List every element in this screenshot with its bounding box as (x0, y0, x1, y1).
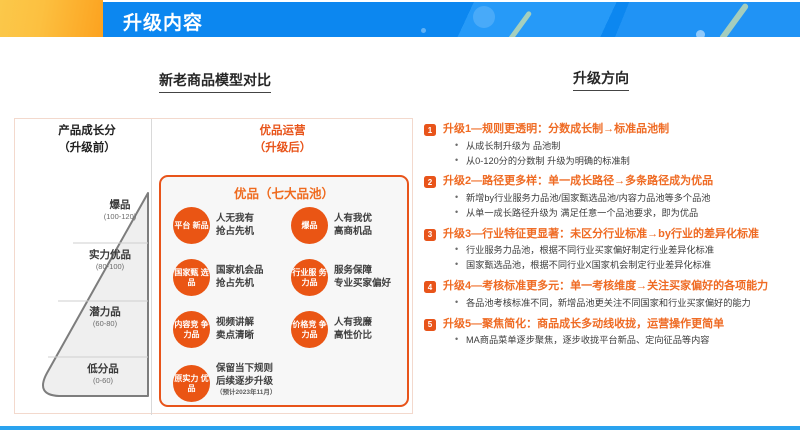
pool-description: 视频讲解 卖点清晰 (216, 317, 254, 342)
pyramid-tier-range: (60-80) (61, 319, 149, 329)
pool-description: 人有我优 高商机品 (334, 213, 372, 238)
list-item: 5 升级5—聚焦简化：商品成长多动线收拢，运营操作更简单 MA商品菜单逐步聚焦，… (424, 317, 796, 349)
direction-bullet: 国家甄选品池，根据不同行业X国家机会制定行业差异化标准 (455, 258, 796, 273)
pool-bubble-label: 原实力 优品 (173, 365, 210, 402)
direction-bullet: 各品池考核标准不同，新增品池更关注不同国家和行业买家偏好的能力 (455, 296, 796, 311)
pool-bubble-label: 价格竞 争力品 (291, 311, 328, 348)
panel-divider (151, 119, 152, 415)
pool-bubble-label: 国家甄 选品 (173, 259, 210, 296)
direction-bullet: 从0-120分的分数制 升级为明确的标准制 (455, 154, 796, 169)
pyramid-tier-name: 潜力品 (61, 306, 149, 319)
direction-header: 3 升级3—行业特征更显著：未区分行业标准→by行业的差异化标准 (424, 227, 796, 243)
direction-bullets: 各品池考核标准不同，新增品池更关注不同国家和行业买家偏好的能力 (455, 296, 796, 311)
direction-bullets: MA商品菜单逐步聚焦，逐步收拢平台新品、定向征品等内容 (455, 333, 796, 348)
banner-circle-icon (421, 28, 426, 33)
page-title: 升级内容 (123, 8, 203, 35)
pyramid-tier-range: (80-100) (71, 262, 149, 272)
section-title-upgrade-direction: 升级方向 (573, 68, 629, 91)
pool-bubble-label: 平台 新品 (173, 207, 210, 244)
list-item: 3 升级3—行业特征更显著：未区分行业标准→by行业的差异化标准 行业服务力品池… (424, 227, 796, 273)
pyramid-tier-name: 爆品 (91, 199, 149, 212)
pyramid-tier: 潜力品 (60-80) (61, 306, 149, 328)
model-comparison-panel: 产品成长分 （升级前） 优品运营 （升级后） 爆品 (100-120) 实力优品… (14, 118, 413, 414)
direction-heading: 升级3—行业特征更显著：未区分行业标准→by行业的差异化标准 (443, 227, 759, 243)
pyramid-tier: 低分品 (0-60) (57, 363, 149, 385)
direction-heading: 升级5—聚焦简化：商品成长多动线收拢，运营操作更简单 (443, 317, 724, 333)
direction-bullets: 新增by行业服务力品池/国家甄选品池/内容力品池等多个品池 从单一成长路径升级为… (455, 191, 796, 221)
pool-bubble-label: 爆品 (291, 207, 328, 244)
new-model-heading-line1: 优品运营 (155, 123, 410, 140)
page-header: 升级内容 (0, 0, 800, 40)
direction-bullets: 从成长制升级为 品池制 从0-120分的分数制 升级为明确的标准制 (455, 139, 796, 169)
direction-bullet: 从成长制升级为 品池制 (455, 139, 796, 154)
pyramid-tier: 实力优品 (80-100) (71, 249, 149, 271)
section-title-model-comparison: 新老商品模型对比 (159, 70, 271, 93)
pool-item[interactable]: 内容竞 争力品 视频讲解 卖点清晰 (173, 311, 254, 348)
pool-bubble-label: 内容竞 争力品 (173, 311, 210, 348)
direction-header: 4 升级4—考核标准更多元：单一考核维度→关注买家偏好的各项能力 (424, 279, 796, 295)
old-model-heading-line2: （升级前） (25, 140, 149, 157)
list-item: 4 升级4—考核标准更多元：单一考核维度→关注买家偏好的各项能力 各品池考核标准… (424, 279, 796, 311)
pool-item[interactable]: 爆品 人有我优 高商机品 (291, 207, 372, 244)
pool-description: 人有我廉 高性价比 (334, 317, 372, 342)
banner-circle-icon (473, 6, 495, 28)
new-model-heading: 优品运营 （升级后） (155, 123, 410, 156)
direction-header: 5 升级5—聚焦简化：商品成长多动线收拢，运营操作更简单 (424, 317, 796, 333)
status-badge: 1 (424, 124, 436, 136)
banner-circle-icon (696, 30, 705, 37)
pool-item[interactable]: 价格竞 争力品 人有我廉 高性价比 (291, 311, 372, 348)
pool-item[interactable]: 行业服 务力品 服务保障 专业买家偏好 (291, 259, 391, 296)
status-badge: 2 (424, 176, 436, 188)
pool-item[interactable]: 平台 新品 人无我有 抢占先机 (173, 207, 254, 244)
pyramid-tier-name: 实力优品 (71, 249, 149, 262)
product-pool-title: 优品（七大品池） (161, 183, 407, 202)
old-model-heading: 产品成长分 （升级前） (25, 123, 149, 156)
old-model-heading-line1: 产品成长分 (25, 123, 149, 140)
pool-description: 服务保障 专业买家偏好 (334, 265, 391, 290)
direction-header: 2 升级2—路径更多样：单一成长路径→多条路径成为优品 (424, 174, 796, 190)
direction-bullet: 从单一成长路径升级为 满足任意一个品池要求，即为优品 (455, 206, 796, 221)
pyramid-tier-range: (100-120) (91, 212, 149, 222)
direction-header: 1 升级1—规则更透明：分数成长制→标准品池制 (424, 122, 796, 138)
pool-description: 人无我有 抢占先机 (216, 213, 254, 238)
upgrade-direction-list: 1 升级1—规则更透明：分数成长制→标准品池制 从成长制升级为 品池制 从0-1… (424, 122, 796, 354)
header-left-gradient-block (0, 0, 103, 37)
new-model-heading-line2: （升级后） (155, 140, 410, 157)
direction-bullets: 行业服务力品池，根据不同行业买家偏好制定行业差异化标准 国家甄选品池，根据不同行… (455, 243, 796, 273)
pyramid-tier-name: 低分品 (57, 363, 149, 376)
pool-bubble-label: 行业服 务力品 (291, 259, 328, 296)
status-badge: 3 (424, 229, 436, 241)
direction-heading: 升级2—路径更多样：单一成长路径→多条路径成为优品 (443, 174, 713, 190)
pool-item[interactable]: 原实力 优品 保留当下规则 后续逐步升级（预计2023年11月） (173, 363, 276, 402)
pool-description-note: （预计2023年11月） (216, 389, 276, 398)
direction-bullet: MA商品菜单逐步聚焦，逐步收拢平台新品、定向征品等内容 (455, 333, 796, 348)
product-pool-box: 优品（七大品池） 平台 新品 人无我有 抢占先机 爆品 人有我优 高商机品 国家… (159, 175, 409, 407)
direction-heading: 升级1—规则更透明：分数成长制→标准品池制 (443, 122, 669, 138)
growth-score-pyramid: 爆品 (100-120) 实力优品 (80-100) 潜力品 (60-80) 低… (15, 191, 151, 411)
list-item: 1 升级1—规则更透明：分数成长制→标准品池制 从成长制升级为 品池制 从0-1… (424, 122, 796, 168)
footer-accent-bar (0, 426, 800, 430)
pool-item[interactable]: 国家甄 选品 国家机会品 抢占先机 (173, 259, 264, 296)
direction-heading: 升级4—考核标准更多元：单一考核维度→关注买家偏好的各项能力 (443, 279, 768, 295)
status-badge: 4 (424, 281, 436, 293)
status-badge: 5 (424, 319, 436, 331)
pyramid-tier: 爆品 (100-120) (91, 199, 149, 221)
direction-bullet: 行业服务力品池，根据不同行业买家偏好制定行业差异化标准 (455, 243, 796, 258)
pool-description: 国家机会品 抢占先机 (216, 265, 264, 290)
direction-bullet: 新增by行业服务力品池/国家甄选品池/内容力品池等多个品池 (455, 191, 796, 206)
header-banner: 升级内容 (103, 2, 800, 37)
pool-description-text: 保留当下规则 后续逐步升级 (216, 363, 273, 387)
pool-description: 保留当下规则 后续逐步升级（预计2023年11月） (216, 363, 276, 398)
pyramid-tier-range: (0-60) (57, 376, 149, 386)
list-item: 2 升级2—路径更多样：单一成长路径→多条路径成为优品 新增by行业服务力品池/… (424, 174, 796, 220)
